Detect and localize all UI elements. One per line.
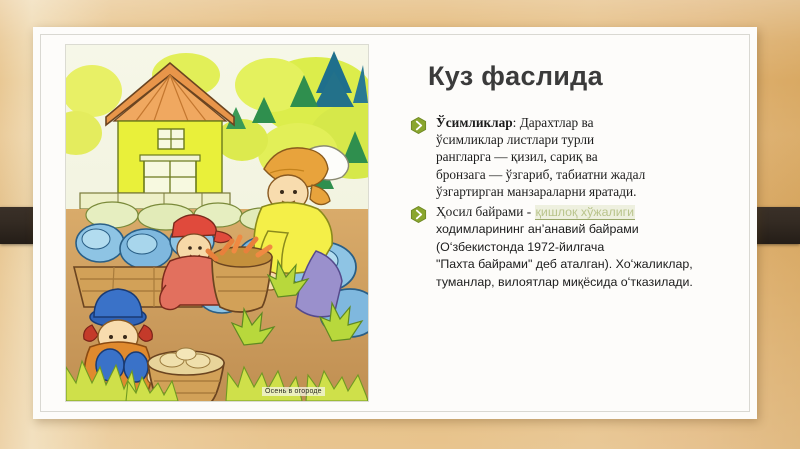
- bullet-prefix: Ҳосил байрами -: [436, 204, 535, 219]
- chevron-right-icon: [410, 206, 427, 223]
- bullet-line: "Пахта байрами" деб аталган). Хоʻжаликла…: [436, 257, 693, 271]
- bullet-list: Ўсимликлар: Дарахтлар ва ўсимликлар лист…: [398, 114, 728, 291]
- image-caption: Осень в огороде: [262, 387, 325, 396]
- bullet-text: Ҳосил байрами - қишлоқ хўжалиги ходимлар…: [436, 203, 728, 291]
- text-content-column: Куз фаслида Ўсимликлар: Дарахтлар ва ўси…: [398, 45, 728, 401]
- list-item: Ҳосил байрами - қишлоқ хўжалиги ходимлар…: [398, 203, 728, 291]
- bullet-line: туманлар, вилоятлар миқёсида оʻтказилади…: [436, 275, 693, 289]
- bullet-line: бронзага — ўзгариб, табиатни жадал: [436, 167, 645, 182]
- bullet-line: ўсимликлар листлари турли: [436, 132, 594, 147]
- chevron-right-icon: [410, 117, 427, 134]
- bullet-line: ўзгартирган манзараларни яратади.: [436, 184, 636, 199]
- bullet-lead-suffix: : Дарахтлар ва: [513, 115, 594, 130]
- list-item: Ўсимликлар: Дарахтлар ва ўсимликлар лист…: [398, 114, 728, 200]
- bullet-lead-term: Ўсимликлар: [436, 115, 513, 130]
- bullet-line: (Оʻзбекистонда 1972-йилгача: [436, 240, 604, 254]
- bullet-text: Ўсимликлар: Дарахтлар ва ўсимликлар лист…: [436, 114, 728, 200]
- page-title: Куз фаслида: [428, 61, 728, 92]
- autumn-garden-illustration: Осень в огороде: [66, 45, 368, 401]
- hyperlink-qishloq-xojaligi[interactable]: қишлоқ хўжалиги: [535, 205, 636, 220]
- illustration-canvas: [66, 45, 368, 401]
- slide-content-card: Осень в огороде Куз фаслида Ўсимликлар: …: [33, 27, 757, 419]
- presentation-slide: Осень в огороде Куз фаслида Ўсимликлар: …: [0, 0, 800, 449]
- bullet-line: ходимларининг ан’анавий байрами: [436, 222, 639, 236]
- bullet-line: рангларга — қизил, сариқ ва: [436, 149, 598, 164]
